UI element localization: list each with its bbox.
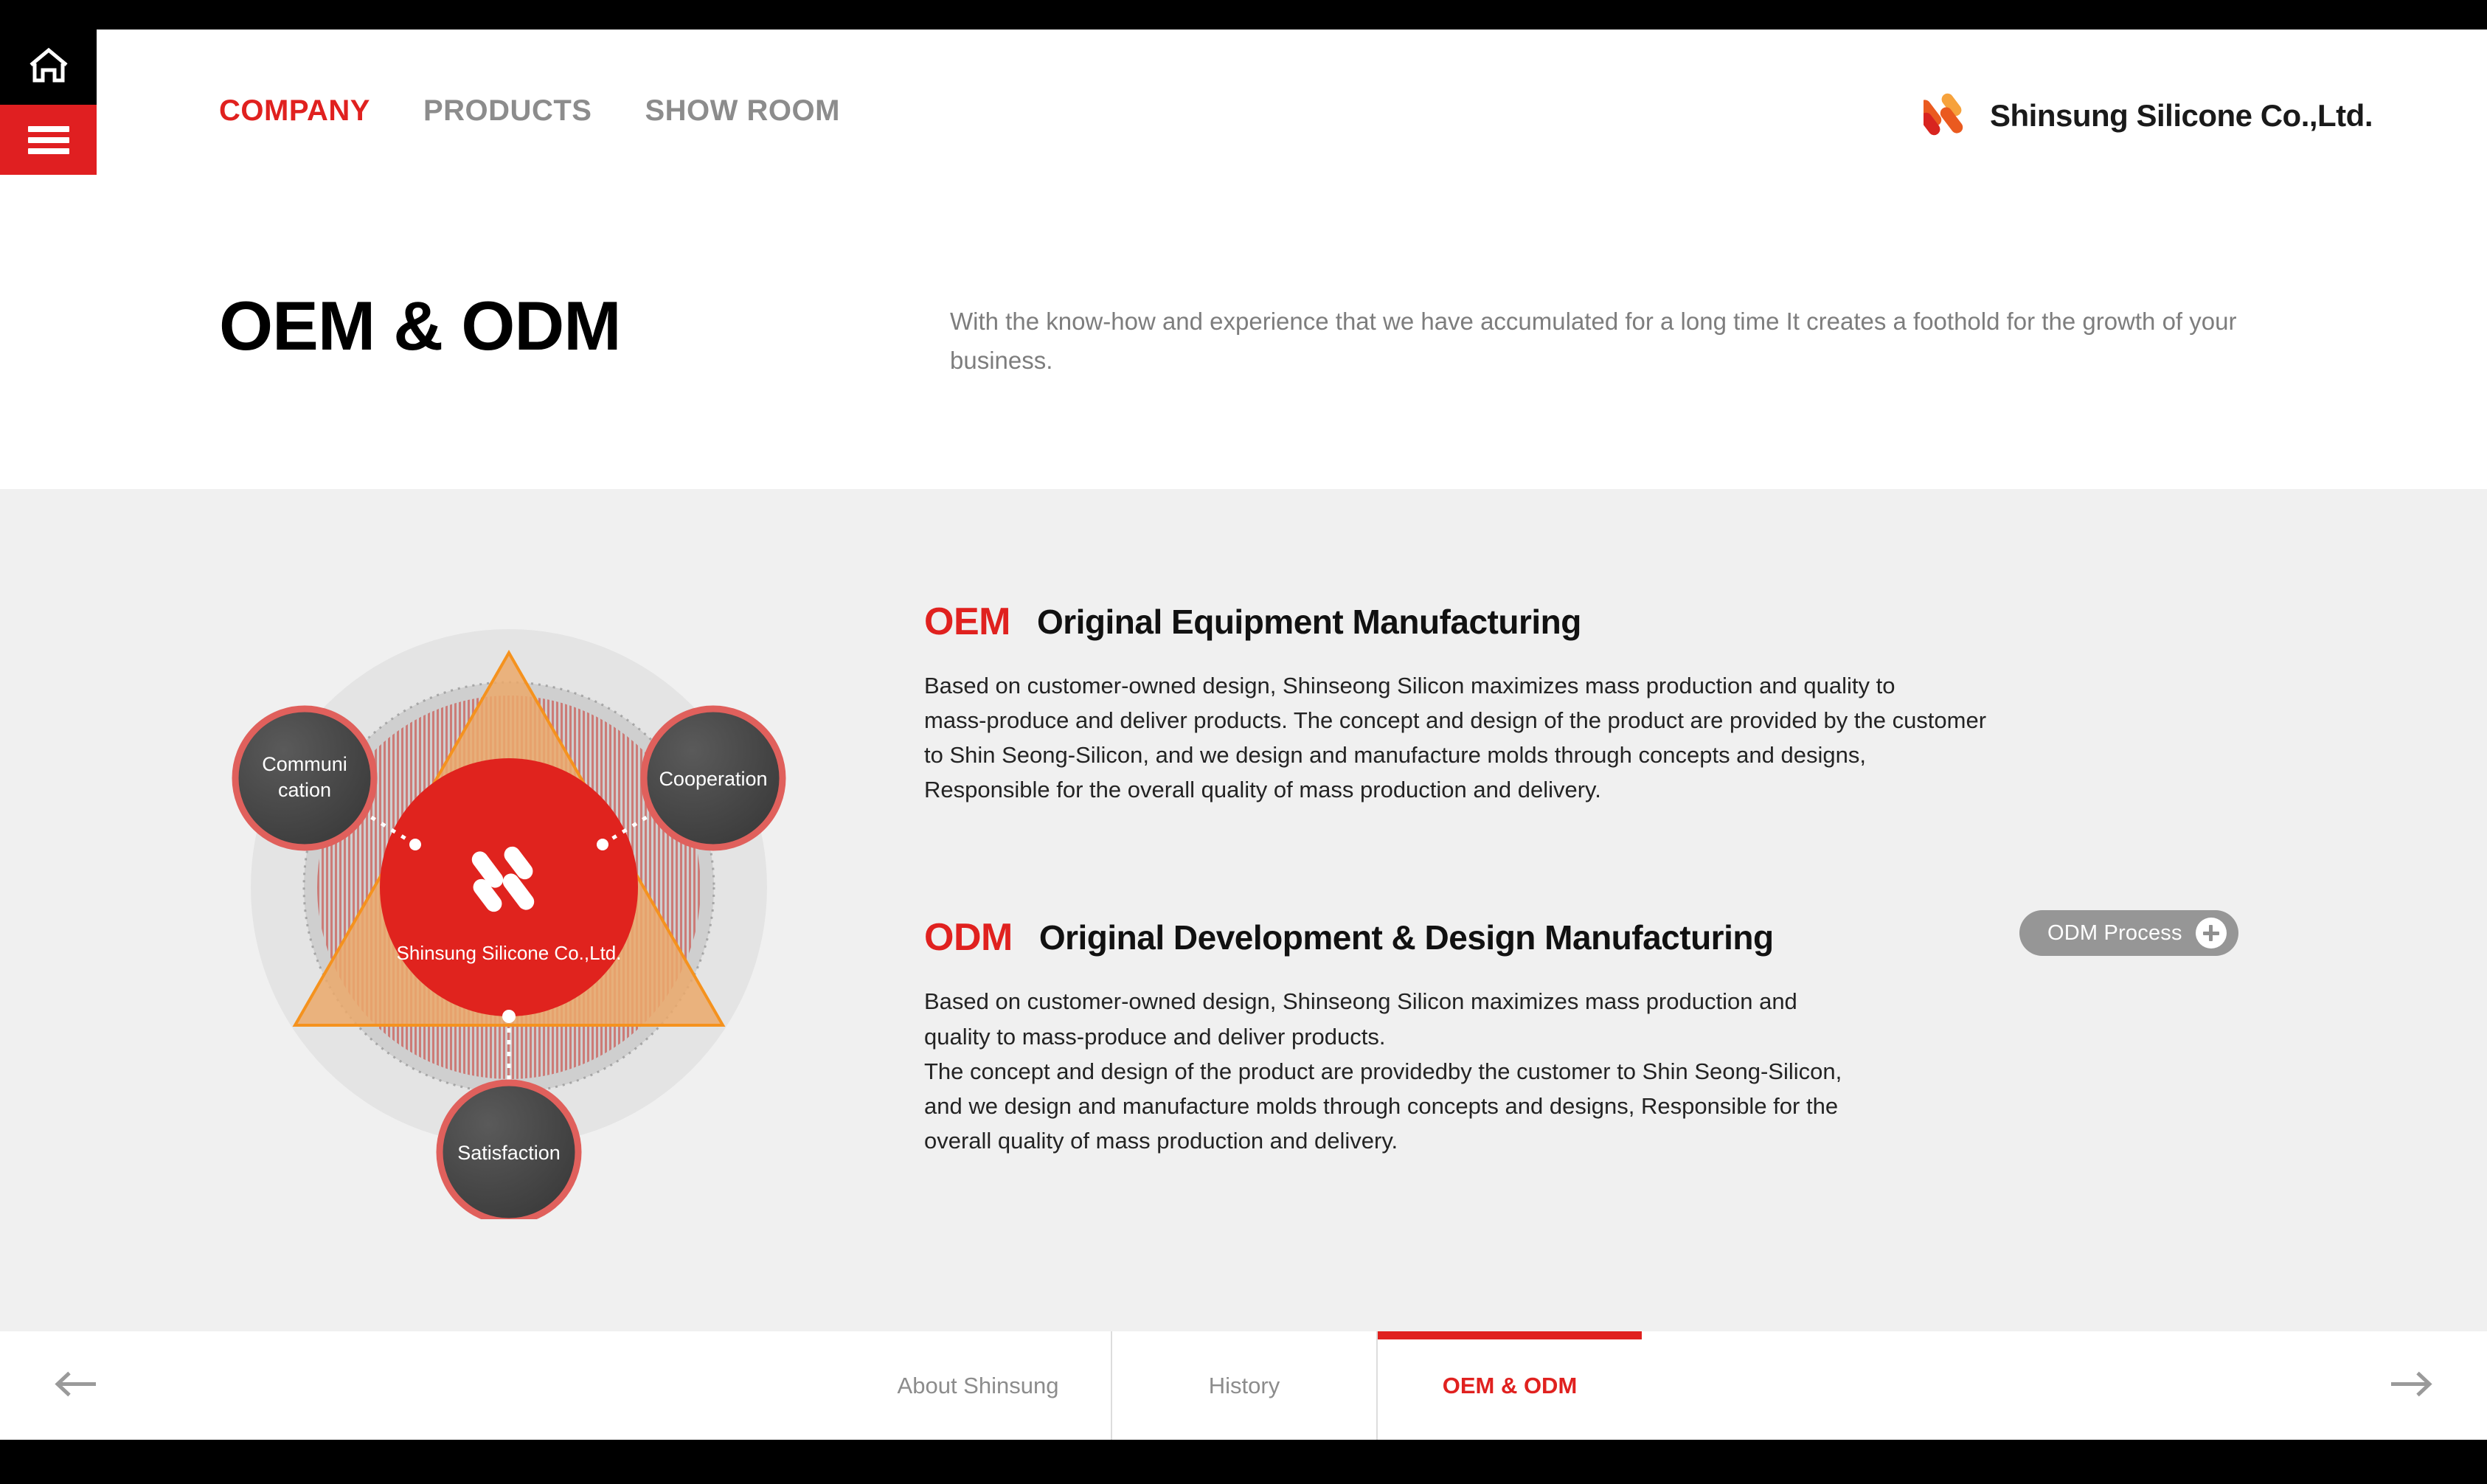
bottom-tab-oem-odm[interactable]: OEM & ODM bbox=[1376, 1331, 1642, 1440]
diagram-node-cooperation: Cooperation bbox=[644, 709, 783, 847]
odm-body-line: and we design and manufacture molds thro… bbox=[924, 1089, 2370, 1123]
nav-item-products[interactable]: PRODUCTS bbox=[423, 94, 592, 128]
bottom-tab-list: About Shinsung History OEM & ODM bbox=[845, 1331, 1642, 1440]
oem-body-line: Based on customer-owned design, Shinseon… bbox=[924, 668, 2370, 703]
odm-body-line: quality to mass-produce and deliver prod… bbox=[924, 1019, 2370, 1054]
page-description: With the know-how and experience that we… bbox=[950, 302, 2292, 381]
site-header: COMPANY PRODUCTS SHOW ROOM Shinsung Sili… bbox=[0, 30, 2487, 489]
oem-heading: OEM Original Equipment Manufacturing bbox=[924, 600, 2370, 644]
arrow-left-icon[interactable] bbox=[52, 1369, 99, 1402]
hamburger-menu-button[interactable] bbox=[0, 105, 97, 175]
odm-heading: ODM Original Development & Design Manufa… bbox=[924, 915, 2370, 960]
odm-process-label: ODM Process bbox=[2047, 921, 2182, 946]
page-title: OEM & ODM bbox=[219, 291, 621, 361]
oem-odm-diagram: Shinsung Silicone Co.,Ltd. Communi catio… bbox=[207, 570, 811, 1219]
nav-item-company[interactable]: COMPANY bbox=[219, 94, 370, 128]
bottom-tab-label: About Shinsung bbox=[898, 1373, 1059, 1399]
hamburger-menu-icon bbox=[28, 121, 69, 159]
diagram-center-label: Shinsung Silicone Co.,Ltd. bbox=[397, 942, 622, 964]
diagram-node-communication: Communi cation bbox=[235, 709, 374, 847]
odm-body-line: The concept and design of the product ar… bbox=[924, 1054, 2370, 1089]
svg-text:cation: cation bbox=[278, 779, 331, 801]
oem-title: Original Equipment Manufacturing bbox=[1037, 602, 1581, 642]
oem-body-line: to Shin Seong-Silicon, and we design and… bbox=[924, 738, 2370, 772]
main-content-section: Shinsung Silicone Co.,Ltd. Communi catio… bbox=[0, 489, 2487, 1331]
plus-circle-icon bbox=[2196, 918, 2227, 949]
odm-section: ODM Original Development & Design Manufa… bbox=[924, 915, 2370, 1158]
svg-text:Communi: Communi bbox=[262, 753, 347, 775]
nav-item-showroom[interactable]: SHOW ROOM bbox=[645, 94, 839, 128]
shinsung-logo-icon bbox=[1924, 91, 1975, 140]
bottom-tab-history[interactable]: History bbox=[1111, 1331, 1376, 1440]
bottom-pager: About Shinsung History OEM & ODM bbox=[0, 1331, 2487, 1440]
oem-body-line: mass-produce and deliver products. The c… bbox=[924, 703, 2370, 738]
side-quick-buttons bbox=[0, 30, 97, 175]
home-button[interactable] bbox=[0, 30, 97, 105]
odm-abbr: ODM bbox=[924, 915, 1013, 960]
oem-abbr: OEM bbox=[924, 600, 1010, 644]
oem-body-line: Responsible for the overall quality of m… bbox=[924, 772, 2370, 807]
main-navigation: COMPANY PRODUCTS SHOW ROOM bbox=[219, 94, 840, 128]
oem-section: OEM Original Equipment Manufacturing Bas… bbox=[924, 600, 2370, 807]
bottom-black-bar bbox=[0, 1440, 2487, 1484]
diagram-node-satisfaction: Satisfaction bbox=[440, 1083, 578, 1219]
oem-body: Based on customer-owned design, Shinseon… bbox=[924, 668, 2370, 807]
odm-process-button[interactable]: ODM Process bbox=[2019, 910, 2238, 956]
arrow-right-icon[interactable] bbox=[2388, 1369, 2435, 1402]
odm-title: Original Development & Design Manufactur… bbox=[1039, 918, 1774, 957]
odm-body: Based on customer-owned design, Shinseon… bbox=[924, 984, 2370, 1158]
bottom-tab-about-shinsung[interactable]: About Shinsung bbox=[845, 1331, 1111, 1440]
odm-body-line: overall quality of mass production and d… bbox=[924, 1123, 2370, 1158]
top-black-bar bbox=[0, 0, 2487, 30]
bottom-tab-label: OEM & ODM bbox=[1443, 1373, 1578, 1399]
bottom-tab-label: History bbox=[1209, 1373, 1280, 1399]
svg-text:Cooperation: Cooperation bbox=[659, 768, 767, 790]
brand-logo[interactable]: Shinsung Silicone Co.,Ltd. bbox=[1924, 91, 2373, 140]
odm-body-line: Based on customer-owned design, Shinseon… bbox=[924, 984, 2370, 1019]
home-icon bbox=[28, 46, 69, 89]
brand-name: Shinsung Silicone Co.,Ltd. bbox=[1990, 98, 2373, 134]
oem-odm-text-content: OEM Original Equipment Manufacturing Bas… bbox=[924, 600, 2370, 1158]
svg-text:Satisfaction: Satisfaction bbox=[457, 1142, 561, 1164]
